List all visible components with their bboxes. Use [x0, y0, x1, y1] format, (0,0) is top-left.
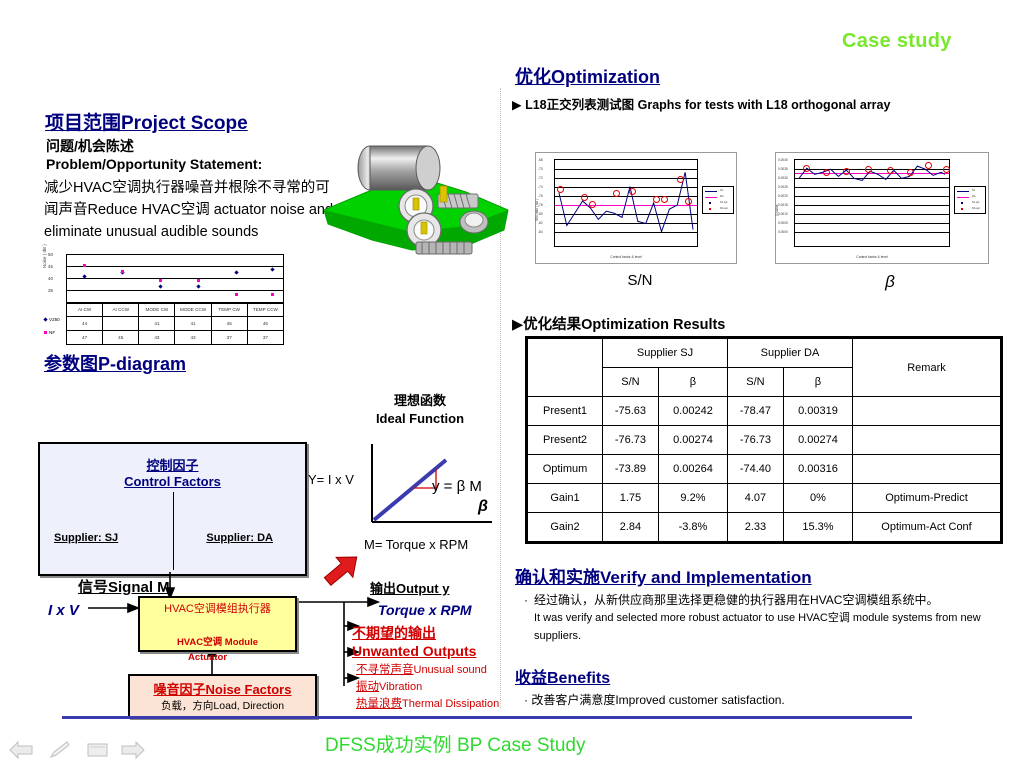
pen-icon[interactable] [48, 740, 72, 760]
noise-v250-0: 44 [67, 317, 103, 331]
actuator-illustration [316, 138, 516, 270]
results-row-1-da-sn: -76.73 [728, 426, 784, 455]
results-row-0-sj-sn: -75.63 [603, 397, 659, 426]
beta-chart-legend: SJ DA SJ opt DA opt [954, 186, 986, 214]
verify-heading: 确认和实施Verify and Implementation [515, 563, 812, 588]
results-row-0-label: Present1 [527, 397, 603, 426]
results-row-2-sj-b: 0.00264 [658, 455, 727, 484]
results-sub-2: S/N [728, 368, 784, 397]
sn-ytick-8: -84 [538, 230, 543, 234]
optimization-results-title: 优化结果Optimization Results [523, 317, 725, 333]
noise-ytick-3: 35 [48, 288, 53, 293]
system-name-en: HVAC空调 Module [140, 634, 295, 648]
sn-ytick-7: -82 [538, 221, 543, 225]
noise-chart-table: AI CW AI CCW MODE CW MODE CCW TEMP CW TE… [66, 302, 284, 345]
beta-chart-plot [794, 159, 950, 247]
table-row: 47 45 43 43 37 37 [67, 331, 284, 345]
beta-ytick-7: 0.0005 [778, 221, 788, 225]
table-row: Gain2 2.84 -3.8% 2.33 15.3% Optimum-Act … [527, 513, 1002, 543]
noise-nf-1: 45 [103, 331, 139, 345]
bullet-icon: · [524, 693, 528, 707]
noise-factors-box: 噪音因子Noise Factors 负载，方向Load, Direction [128, 674, 317, 718]
control-factors-en: Control Factors [40, 474, 305, 490]
unwanted-outputs-title: 不期望的输出 Unwanted Outputs [352, 624, 476, 660]
pdiagram-heading: 参数图P-diagram [44, 350, 186, 376]
noise-nf-0: 47 [67, 331, 103, 345]
unwanted-item-0-cn: 不寻常声音 [356, 664, 414, 676]
sn-ytick-4: -76 [538, 194, 543, 198]
sn-ytick-2: -72 [538, 176, 543, 180]
noise-factors-sub: 负载，方向Load, Direction [130, 698, 315, 713]
results-row-2-remark [853, 455, 1002, 484]
right-arrow-icon[interactable] [120, 740, 146, 760]
sn-ratio-chart: S/N ratio ( db ) -68 -70 -72 -74 -76 -78… [535, 152, 737, 264]
beta-ytick-8: 0.0000 [778, 230, 788, 234]
verify-bullet-cn: 经过确认，从新供应商那里选择更稳健的执行器用在HVAC空调模组系统中。 [534, 593, 938, 607]
noise-v250-3: 41 [175, 317, 211, 331]
results-row-3-da-sn: 4.07 [728, 484, 784, 513]
control-factors-title: 控制因子 Control Factors [40, 458, 305, 490]
noise-legend-nf: NF [49, 330, 55, 335]
results-row-0-sj-b: 0.00242 [658, 397, 727, 426]
noise-chart-plot [66, 254, 284, 304]
list-item: 热量浪费Thermal Dissipation [356, 696, 499, 713]
results-row-4-sj-b: -3.8% [658, 513, 727, 543]
unwanted-item-2-en: Thermal Dissipation [402, 698, 499, 710]
problem-statement-cn: 问题/机会陈述 [46, 136, 134, 156]
results-row-1-sj-b: 0.00274 [658, 426, 727, 455]
unwanted-item-2-cn: 热量浪费 [356, 698, 402, 710]
beta-legend-2: SJ opt [972, 201, 979, 204]
results-row-2-da-b: 0.00316 [783, 455, 852, 484]
beta-ytick-3: 0.0025 [778, 185, 788, 189]
noise-col-0: AI CW [67, 303, 103, 317]
results-row-3-sj-sn: 1.75 [603, 484, 659, 513]
results-sub-1: β [658, 368, 727, 397]
sn-ytick-3: -74 [538, 185, 543, 189]
unwanted-item-1-en: Vibration [379, 681, 422, 693]
menu-box-icon[interactable] [86, 741, 110, 759]
optimization-subtitle-en: Graphs for tests with L18 orthogonal arr… [638, 98, 891, 112]
project-scope-body: 减少HVAC空调执行器噪音并根除不寻常的可闻声音Reduce HVAC空调 ac… [44, 177, 344, 243]
output-label: 输出Output y [370, 578, 449, 597]
results-row-3-sj-b: 9.2% [658, 484, 727, 513]
noise-col-5: TEMP CCW [247, 303, 283, 317]
ideal-function-equation: y = β M [432, 478, 482, 495]
slideshow-nav-controls[interactable] [8, 738, 148, 762]
benefits-bullet: 改善客户满意度Improved customer satisfaction. [531, 693, 784, 707]
results-group-sj: Supplier SJ [603, 338, 728, 368]
unwanted-outputs-cn: 不期望的输出 [352, 624, 476, 642]
noise-v250-5: 46 [247, 317, 283, 331]
table-row: Optimum -73.89 0.00264 -74.40 0.00316 [527, 455, 1002, 484]
beta-chart-xlabel: Control factor & level [794, 255, 950, 259]
noise-factors-title: 噪音因子Noise Factors [130, 679, 315, 698]
sn-chart-legend: SJ DA SJ opt DA opt [702, 186, 734, 214]
sn-ytick-5: -78 [538, 203, 543, 207]
beta-ytick-5: 0.0015 [778, 203, 788, 207]
list-item: 不寻常声音Unusual sound [356, 662, 499, 679]
noise-col-4: TEMP CW [211, 303, 247, 317]
sn-ytick-1: -70 [538, 167, 543, 171]
left-arrow-icon[interactable] [8, 740, 34, 760]
noise-ytick-2: 40 [48, 276, 53, 281]
ideal-function-beta: β [478, 498, 488, 516]
beta-legend-0: SJ [972, 189, 975, 192]
optimization-subtitle-cn: L18正交列表测试图 [525, 98, 634, 112]
system-box: HVAC空调模组执行器 HVAC空调 Module [138, 596, 297, 652]
ideal-function-title-cn: 理想函数 [330, 392, 510, 410]
output-value: Torque x RPM [378, 602, 472, 618]
noise-nf-5: 37 [247, 331, 283, 345]
results-row-0-remark [853, 397, 1002, 426]
table-row: Gain1 1.75 9.2% 4.07 0% Optimum-Predict [527, 484, 1002, 513]
noise-chart-ylabel: Noise ( dB ) [42, 212, 47, 268]
unwanted-outputs-en: Unwanted Outputs [352, 642, 476, 660]
verify-bullet-en: It was verify and selected more robust a… [534, 612, 981, 642]
results-row-4-da-sn: 2.33 [728, 513, 784, 543]
noise-chart-legend: V250 NF [44, 313, 60, 339]
footer-title: DFSS成功实例 BP Case Study [325, 730, 585, 757]
sn-chart-plot [554, 159, 698, 247]
project-scope-heading: 项目范围Project Scope [45, 108, 248, 135]
footer-divider [62, 716, 912, 719]
results-row-2-sj-sn: -73.89 [603, 455, 659, 484]
noise-ytick-1: 45 [48, 264, 53, 269]
noise-v250-2: 41 [139, 317, 175, 331]
bullet-icon: · [524, 592, 528, 645]
noise-nf-3: 43 [175, 331, 211, 345]
system-name-cn: HVAC空调模组执行器 [140, 603, 295, 616]
table-row: Present1 -75.63 0.00242 -78.47 0.00319 [527, 397, 1002, 426]
case-study-title: Case study [842, 30, 952, 53]
noise-v250-1 [103, 317, 139, 331]
sn-legend-0: SJ [720, 189, 723, 192]
beta-ytick-2: 0.0030 [778, 176, 788, 180]
optimization-subtitle: ▶ L18正交列表测试图 Graphs for tests with L18 o… [512, 94, 890, 113]
results-row-4-remark: Optimum-Act Conf [853, 513, 1002, 543]
results-group-da: Supplier DA [728, 338, 853, 368]
optimization-heading: 优化Optimization [515, 63, 660, 89]
results-sub-3: β [783, 368, 852, 397]
unwanted-outputs-list: 不寻常声音Unusual sound 振动Vibration 热量浪费Therm… [356, 662, 499, 713]
ideal-function-yaxis: Y= I x V [308, 472, 354, 487]
control-factors-cn: 控制因子 [40, 458, 305, 474]
results-row-4-da-b: 15.3% [783, 513, 852, 543]
noise-legend-v250: V250 [49, 317, 60, 322]
noise-ytick-0: 50 [48, 252, 53, 257]
results-row-3-remark: Optimum-Predict [853, 484, 1002, 513]
noise-col-3: MODE CCW [175, 303, 211, 317]
results-row-3-label: Gain1 [527, 484, 603, 513]
beta-ytick-0: 0.0040 [778, 158, 788, 162]
unwanted-item-1-cn: 振动 [356, 681, 379, 693]
beta-legend-3: DA opt [972, 207, 980, 210]
sn-ytick-6: -80 [538, 212, 543, 216]
problem-statement-en: Problem/Opportunity Statement: [46, 156, 262, 172]
unwanted-item-0-en: Unusual sound [414, 664, 487, 676]
slide-canvas: Case study 项目范围Project Scope 问题/机会陈述 Pro… [0, 0, 1024, 768]
ideal-function-title: 理想函数 Ideal Function [330, 392, 510, 428]
system-name-en2: Actuator [188, 652, 227, 663]
beta-ytick-6: 0.0010 [778, 212, 788, 216]
sn-legend-2: SJ opt [720, 201, 727, 204]
results-row-1-sj-sn: -76.73 [603, 426, 659, 455]
noise-col-2: MODE CW [139, 303, 175, 317]
verify-body: · 经过确认，从新供应商那里选择更稳健的执行器用在HVAC空调模组系统中。 It… [524, 592, 1009, 645]
noise-measurement-chart: Noise ( dB ) 50 45 40 35 AI CW [44, 252, 284, 342]
results-row-0-da-b: 0.00319 [783, 397, 852, 426]
table-row: AI CW AI CCW MODE CW MODE CCW TEMP CW TE… [67, 303, 284, 317]
ideal-function-xaxis: M= Torque x RPM [364, 537, 468, 552]
beta-legend-1: DA [972, 195, 976, 198]
results-row-0-da-sn: -78.47 [728, 397, 784, 426]
beta-chart-caption: β [840, 272, 940, 292]
sn-legend-1: DA [720, 195, 724, 198]
results-row-2-da-sn: -74.40 [728, 455, 784, 484]
optimization-results-heading: ▶优化结果Optimization Results [512, 313, 725, 334]
noise-nf-2: 43 [139, 331, 175, 345]
noise-col-1: AI CCW [103, 303, 139, 317]
results-row-1-label: Present2 [527, 426, 603, 455]
signal-value: I x V [48, 602, 79, 619]
results-group-remark: Remark [853, 338, 1002, 397]
results-row-4-label: Gain2 [527, 513, 603, 543]
table-header-row: Supplier SJ Supplier DA Remark [527, 338, 1002, 368]
noise-nf-4: 37 [211, 331, 247, 345]
table-row: 44 41 41 45 46 [67, 317, 284, 331]
results-corner-cell [527, 338, 603, 397]
beta-chart: β value 0.0040 0.0035 0.0030 0.0025 0.00… [775, 152, 989, 264]
beta-ytick-1: 0.0035 [778, 167, 788, 171]
noise-v250-4: 45 [211, 317, 247, 331]
ideal-function-title-en: Ideal Function [330, 410, 510, 428]
list-item: 振动Vibration [356, 679, 499, 696]
beta-ytick-4: 0.0020 [778, 194, 788, 198]
results-row-3-da-b: 0% [783, 484, 852, 513]
results-row-1-remark [853, 426, 1002, 455]
sn-chart-xlabel: Control factor & level [554, 255, 698, 259]
benefits-heading: 收益Benefits [515, 664, 610, 688]
sn-legend-3: DA opt [720, 207, 728, 210]
optimization-results-table: Supplier SJ Supplier DA Remark S/N β S/N… [525, 336, 1003, 544]
signal-label: 信号Signal M [78, 576, 170, 597]
results-row-1-da-b: 0.00274 [783, 426, 852, 455]
benefits-body: · 改善客户满意度Improved customer satisfaction. [524, 691, 785, 708]
results-sub-0: S/N [603, 368, 659, 397]
sn-ytick-0: -68 [538, 158, 543, 162]
sn-chart-caption: S/N [590, 272, 690, 289]
results-row-2-label: Optimum [527, 455, 603, 484]
results-row-4-sj-sn: 2.84 [603, 513, 659, 543]
table-row: Present2 -76.73 0.00274 -76.73 0.00274 [527, 426, 1002, 455]
